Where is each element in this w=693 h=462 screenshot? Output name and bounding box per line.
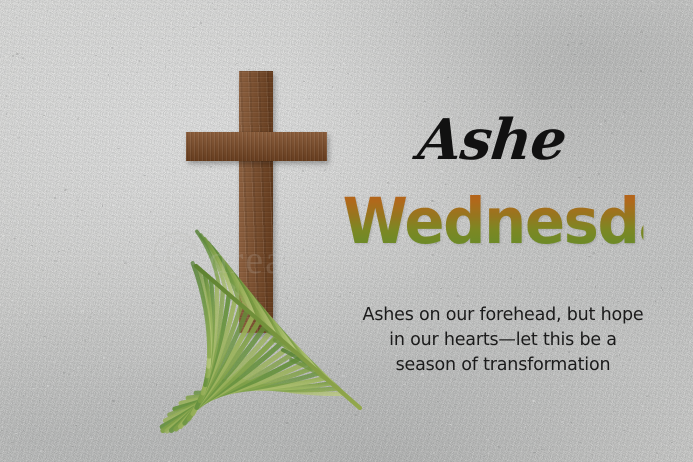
verse-text: Ashes on our forehead, but hope in our h… <box>358 303 648 378</box>
headline-ashe: Ashe <box>349 112 635 168</box>
headline-wednesday: Wednesday <box>343 190 644 253</box>
ash-wednesday-poster: dreamstime Ashe Wednesday Ashes on our f… <box>0 0 693 462</box>
